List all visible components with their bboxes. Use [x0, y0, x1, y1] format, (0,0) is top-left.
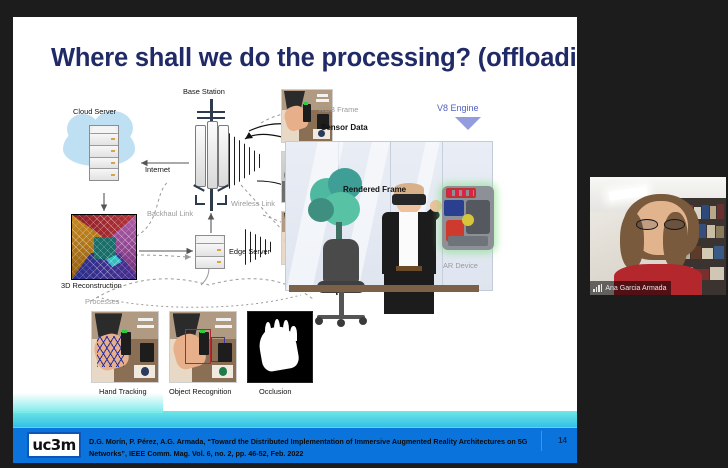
- uc3m-logo-text: uc3m: [32, 436, 75, 454]
- label-sensor-data: Sensor Data: [321, 123, 368, 132]
- rgb-frame-tile: [281, 89, 333, 143]
- label-3d-reconstruction: 3D Reconstruction: [61, 281, 122, 290]
- glasses-graphic: [636, 219, 685, 230]
- architecture-diagram: Cloud Server Base Station Internet Wirel…: [13, 89, 577, 409]
- label-object-recognition: Object Recognition: [169, 387, 231, 396]
- label-processes: Processes: [85, 297, 120, 306]
- label-occlusion: Occlusion: [259, 387, 291, 396]
- participant-name-label: Ana Garcia Armada: [590, 281, 671, 295]
- object-recognition-tile: [169, 311, 237, 383]
- occlusion-tile: [247, 311, 313, 383]
- participant-name-text: Ana Garcia Armada: [605, 285, 666, 292]
- edge-server-icon: [195, 235, 225, 269]
- page-title: Where shall we do the processing? (offlo…: [51, 44, 561, 73]
- label-ar-device: AR Device: [443, 261, 478, 270]
- v8-engine-graphic: [442, 186, 494, 250]
- screen-root: Where shall we do the processing? (offlo…: [0, 0, 728, 468]
- label-v8-engine: V8 Engine: [437, 103, 479, 113]
- label-edge-server: Edge Server: [229, 247, 270, 256]
- label-rgb-frame: RGB Frame: [319, 105, 358, 114]
- base-station-icon: [191, 99, 231, 211]
- desk-graphic: [289, 285, 479, 292]
- label-backhaul-link: Backhaul Link: [147, 209, 193, 218]
- slide-page-number: 14: [541, 431, 567, 451]
- uc3m-logo: uc3m: [27, 432, 81, 458]
- label-base-station: Base Station: [183, 87, 225, 96]
- vr-headset-icon: [392, 194, 426, 205]
- label-cloud-server: Cloud Server: [73, 107, 116, 116]
- label-rendered-frame: Rendered Frame: [343, 185, 406, 194]
- label-wireless-link: Wireless Link: [231, 199, 275, 208]
- v8-engine-pointer-icon: [455, 117, 481, 130]
- signal-bars-icon: [593, 284, 602, 292]
- cloud-server-icon: [89, 125, 119, 181]
- ar-user-figure: [374, 186, 444, 314]
- participant-video-tile[interactable]: Ana Garcia Armada: [590, 177, 726, 295]
- citation-text: D.G. Morín, P. Pérez, A.G. Armada, “Towa…: [89, 436, 529, 459]
- 3d-reconstruction-thumbnail: [71, 214, 137, 280]
- presentation-slide: Where shall we do the processing? (offlo…: [13, 17, 577, 463]
- label-internet: Internet: [145, 165, 170, 174]
- hand-tracking-tile: [91, 311, 159, 383]
